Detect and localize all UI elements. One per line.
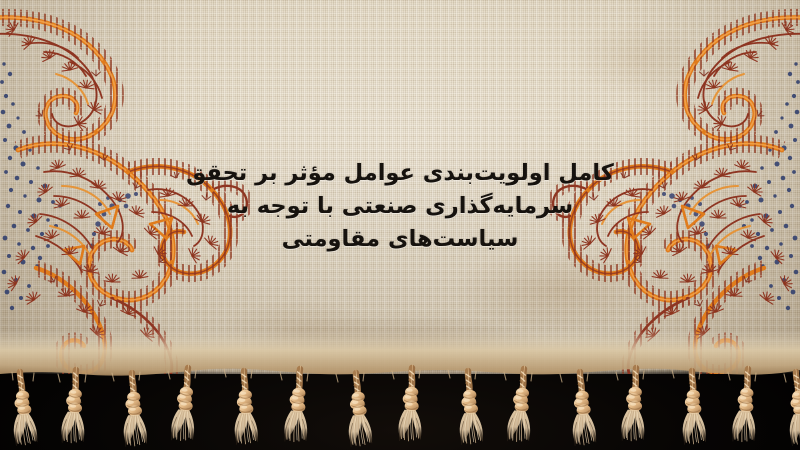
textile-title-card: کامل اولویت‌بندی عوامل مؤثر بر تحقق سرما… — [0, 0, 800, 450]
title-line-3: سیاست‌های مقاومتی — [0, 223, 800, 256]
title-line-2: سرمایه‌گذاری صنعتی با توجه به — [0, 190, 800, 223]
page-title: کامل اولویت‌بندی عوامل مؤثر بر تحقق سرما… — [0, 157, 800, 256]
title-line-1: کامل اولویت‌بندی عوامل مؤثر بر تحقق — [0, 157, 800, 190]
